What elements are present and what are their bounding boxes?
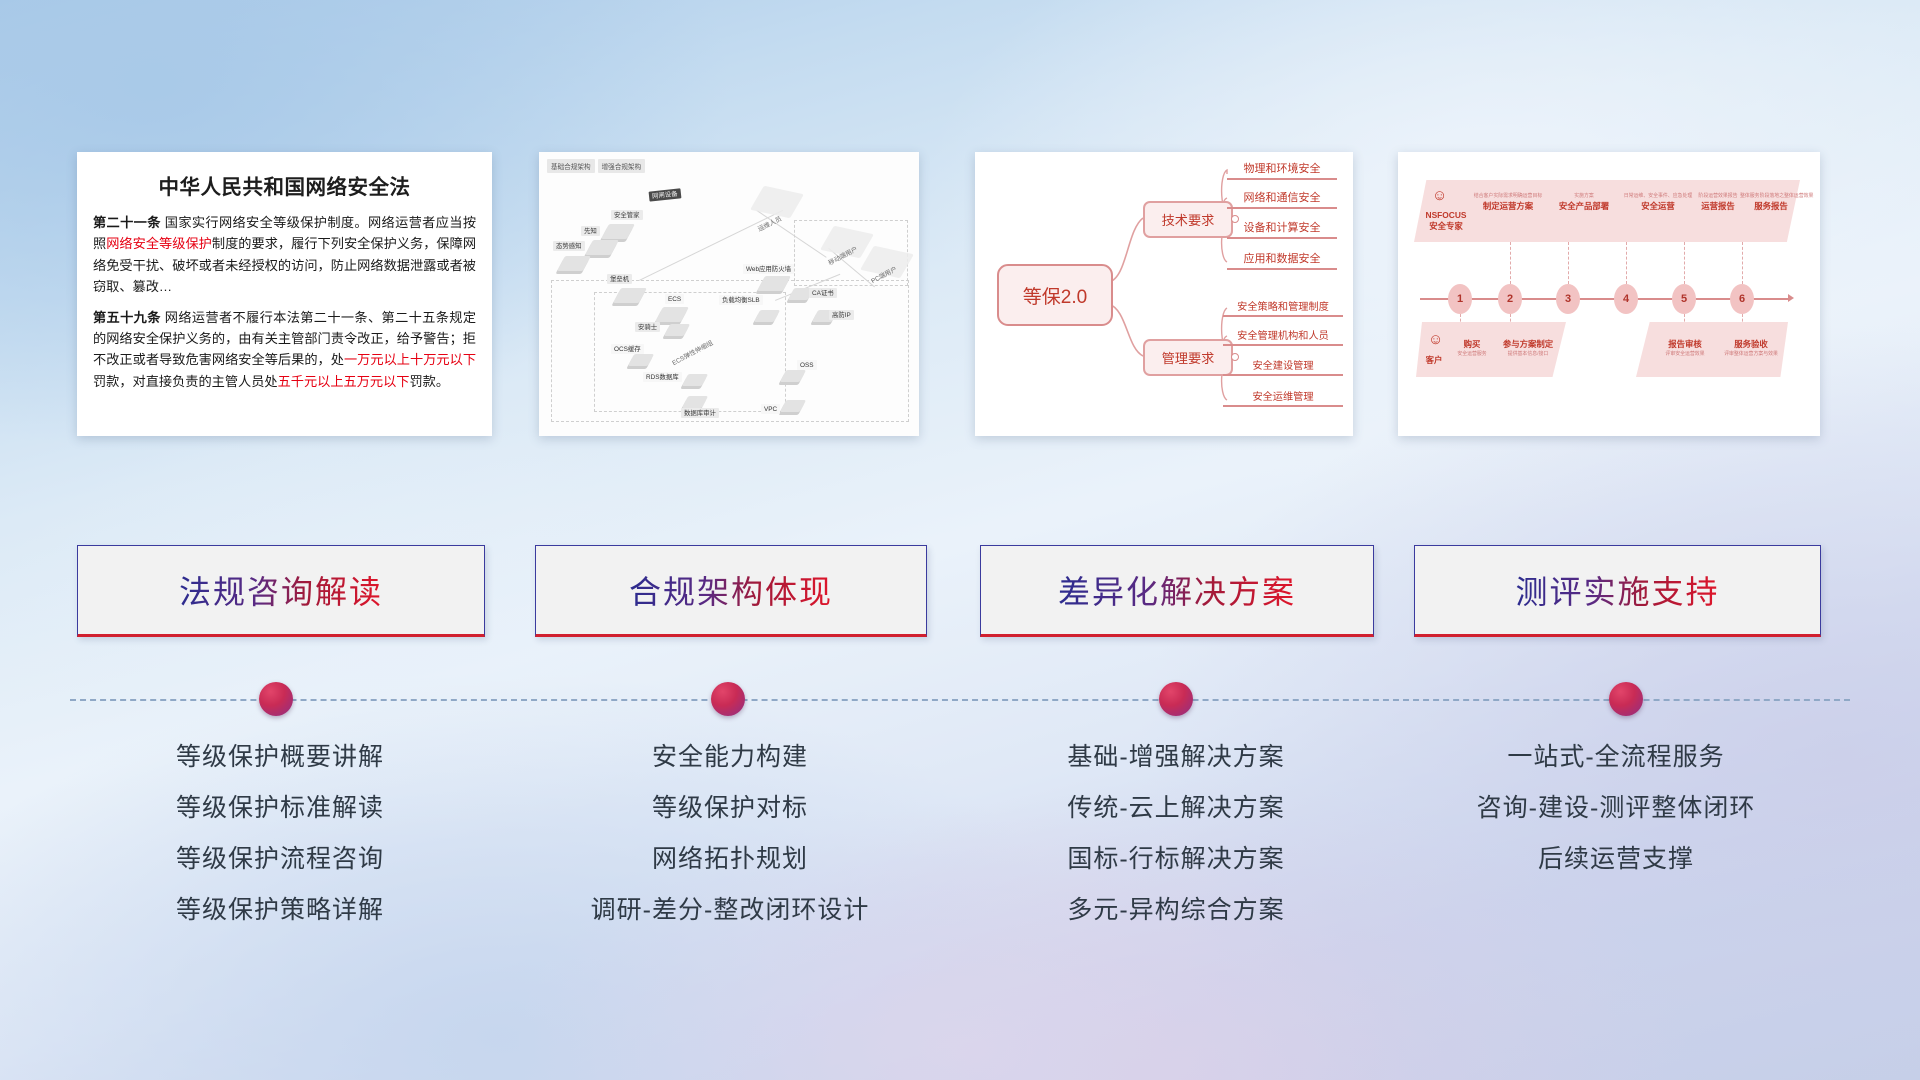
slide-root: 中华人民共和国网络安全法 第二十一条 国家实行网络安全等级保护制度。网络运营者应… [0,0,1920,1080]
detail-list-assessment: 一站式-全流程服务 咨询-建设-测评整体闭环 后续运营支撑 [1412,745,1820,872]
architecture-tabs[interactable]: 基础合规架构 增强合规架构 [547,159,645,173]
progress-timeline-dot-3[interactable] [1159,682,1193,716]
architecture-cube-situation [557,256,591,271]
list-item[interactable]: 一站式-全流程服务 [1412,745,1820,770]
bottom-step-1-sub: 提供基本信息/接口 [1494,350,1562,357]
architecture-node-bastion: 堡垒机 [607,274,632,284]
headline-button-architecture[interactable]: 合规架构体现 [535,545,927,637]
headline-button-architecture-label: 合规架构体现 [629,567,833,613]
headline-button-assessment[interactable]: 测评实施支持 [1414,545,1821,637]
vendor-role-line1: NSFOCUS [1418,210,1474,220]
service-timeline-preview-card[interactable]: ☺ NSFOCUS 安全专家 结合客户实际需求明确运营目标 制定运营方案 实施方… [1398,152,1820,436]
list-item[interactable]: 国标-行标解决方案 [980,847,1372,872]
timeline-node-4[interactable]: 4 [1614,284,1638,314]
architecture-node-ca: CA证书 [809,288,837,298]
mindmap-diagram: 等保2.0 技术要求 物理和环境安全 网络和通信安全 设备和计算安全 应用和数据… [975,152,1353,436]
architecture-node-gateway: 网闸设备 [649,188,681,201]
mindmap-leaf-tech-0: 物理和环境安全 [1227,160,1337,180]
mindmap-leaf-mgmt-1: 安全管理机构和人员 [1223,327,1343,346]
law-title: 中华人民共和国网络安全法 [93,170,476,200]
timeline-bottom-step-0: 购买 安全运营服务 [1450,338,1494,358]
timeline-node-2[interactable]: 2 [1498,284,1522,314]
progress-timeline-line [70,699,1850,701]
architecture-node-waf: Web应用防火墙 [743,264,794,274]
list-item[interactable]: 传统-云上解决方案 [980,796,1372,821]
architecture-node-situation: 态势感知 [553,241,585,251]
law-preview-card[interactable]: 中华人民共和国网络安全法 第二十一条 国家实行网络安全等级保护制度。网络运营者应… [77,152,492,436]
detail-column-regulation: 等级保护概要讲解 等级保护标准解读 等级保护流程咨询 等级保护策略详解 [78,745,482,949]
timeline-customer-role: 客户 [1420,354,1448,366]
architecture-node-anqishi: 安骑士 [635,322,660,332]
top-step-2-title: 安全运营 [1620,200,1696,212]
architecture-node-oss: OSS [797,360,817,370]
top-step-1-sub: 实施方案 [1548,192,1620,199]
detail-column-architecture: 安全能力构建 等级保护对标 网络拓扑规划 调研-差分-整改闭环设计 [535,745,925,949]
vendor-role-line2: 安全专家 [1418,220,1474,232]
customer-person-icon: ☺ [1428,332,1443,347]
headline-button-solution[interactable]: 差异化解决方案 [980,545,1374,637]
detail-column-assessment: 一站式-全流程服务 咨询-建设-测评整体闭环 后续运营支撑 [1412,745,1820,898]
headline-button-assessment-label: 测评实施支持 [1515,567,1719,613]
mindmap-preview-card[interactable]: 等保2.0 技术要求 物理和环境安全 网络和通信安全 设备和计算安全 应用和数据… [975,152,1353,436]
list-item[interactable]: 安全能力构建 [535,745,925,770]
list-item[interactable]: 等级保护流程咨询 [78,847,482,872]
bottom-step-2-title: 报告审核 [1654,338,1716,350]
law-article-21: 第二十一条 国家实行网络安全等级保护制度。网络运营者应当按照网络安全等级保护制度… [93,212,476,298]
timeline-bottom-step-1: 参与方案制定 提供基本信息/接口 [1494,338,1562,358]
architecture-node-ecs: ECS [665,294,684,304]
architecture-node-xianzhi: 先知 [581,226,600,236]
mindmap-leaf-mgmt-0: 安全策略和管理制度 [1223,298,1343,317]
progress-timeline-dot-4[interactable] [1609,682,1643,716]
progress-timeline-dot-2[interactable] [711,682,745,716]
timeline-axis-arrow-icon [1788,294,1794,302]
detail-list-solution: 基础-增强解决方案 传统-云上解决方案 国标-行标解决方案 多元-异构综合方案 [980,745,1372,923]
timeline-top-step-0: 结合客户实际需求明确运营目标 制定运营方案 [1472,192,1544,212]
timeline-vendor-role: NSFOCUS 安全专家 [1418,210,1474,232]
timeline-top-step-1: 实施方案 安全产品部署 [1548,192,1620,212]
mindmap-branch-technical[interactable]: 技术要求 [1143,201,1233,238]
architecture-node-antiddos: 高防IP [829,310,854,320]
detail-list-architecture: 安全能力构建 等级保护对标 网络拓扑规划 调研-差分-整改闭环设计 [535,745,925,923]
timeline-dash-5 [1684,242,1685,284]
progress-timeline-dot-1[interactable] [259,682,293,716]
bottom-step-3-title: 服务验收 [1714,338,1788,350]
top-step-4-sub: 整体服务阶段落地之整体运营效果 [1740,192,1802,199]
timeline-node-5[interactable]: 5 [1672,284,1696,314]
architecture-node-vpc: VPC [761,404,780,414]
law-article-59-highlight-2: 五千元以上五万元以下 [278,374,410,389]
list-item[interactable]: 等级保护对标 [535,796,925,821]
mindmap-leaf-tech-3: 应用和数据安全 [1227,250,1337,270]
timeline-node-3[interactable]: 3 [1556,284,1580,314]
architecture-node-housekeeper: 安全管家 [611,210,643,220]
architecture-node-dbaudit: 数据库审计 [681,408,719,418]
architecture-node-ocs: OCS缓存 [611,344,644,354]
top-step-0-title: 制定运营方案 [1472,200,1544,212]
law-article-59: 第五十九条 网络运营者不履行本法第二十一条、第二十五条规定的网络安全保护义务的，… [93,307,476,393]
law-article-59-text-mid: 罚款，对直接负责的主管人员处 [93,374,278,389]
timeline-top-step-3: 阶段运营效果报告 运营报告 [1690,192,1746,212]
mindmap-leaf-tech-1: 网络和通信安全 [1227,189,1337,209]
top-step-2-sub: 日常运维、安全事件、应急处理 [1620,192,1696,199]
detail-list-regulation: 等级保护概要讲解 等级保护标准解读 等级保护流程咨询 等级保护策略详解 [78,745,482,923]
list-item[interactable]: 多元-异构综合方案 [980,898,1372,923]
bottom-step-0-sub: 安全运营服务 [1450,350,1494,357]
architecture-cube-xianzhi [585,240,619,255]
headline-button-solution-label: 差异化解决方案 [1058,567,1296,613]
law-card-body: 中华人民共和国网络安全法 第二十一条 国家实行网络安全等级保护制度。网络运营者应… [77,152,492,436]
headline-button-regulation[interactable]: 法规咨询解读 [77,545,485,637]
timeline-dash-6 [1742,242,1743,284]
list-item[interactable]: 等级保护策略详解 [78,898,482,923]
mindmap-leaf-tech-2: 设备和计算安全 [1227,219,1337,239]
headline-button-regulation-label: 法规咨询解读 [179,567,383,613]
mindmap-branch-management[interactable]: 管理要求 [1143,339,1233,376]
timeline-dash-2 [1510,242,1511,284]
bottom-step-1-title: 参与方案制定 [1494,338,1562,350]
detail-column-solution: 基础-增强解决方案 传统-云上解决方案 国标-行标解决方案 多元-异构综合方案 [980,745,1372,949]
timeline-dash-4 [1626,242,1627,284]
top-step-1-title: 安全产品部署 [1548,200,1620,212]
mindmap-root-node[interactable]: 等保2.0 [997,264,1113,326]
list-item[interactable]: 后续运营支撑 [1412,847,1820,872]
law-article-59-highlight-1: 一万元以上十万元以下 [344,352,476,367]
top-step-3-title: 运营报告 [1690,200,1746,212]
architecture-diagram: 基础合规架构 增强合规架构 网闸设备 安全管家 先知 态 [539,152,919,436]
architecture-tab-basic[interactable]: 基础合规架构 [547,159,595,173]
timeline-top-step-4: 整体服务阶段落地之整体运营效果 服务报告 [1740,192,1802,212]
architecture-preview-card[interactable]: 基础合规架构 增强合规架构 网闸设备 安全管家 先知 态 [539,152,919,436]
headline-button-row: 法规咨询解读 合规架构体现 差异化解决方案 测评实施支持 [0,545,1920,641]
list-item[interactable]: 咨询-建设-测评整体闭环 [1412,796,1820,821]
list-item[interactable]: 等级保护概要讲解 [78,745,482,770]
top-step-4-title: 服务报告 [1740,200,1802,212]
list-item[interactable]: 等级保护标准解读 [78,796,482,821]
list-item[interactable]: 基础-增强解决方案 [980,745,1372,770]
bottom-step-2-sub: 评审安全运营效果 [1654,350,1716,357]
timeline-node-1[interactable]: 1 [1448,284,1472,314]
timeline-dash-3 [1568,242,1569,284]
timeline-bottom-step-2: 报告审核 评审安全运营效果 [1654,338,1716,358]
timeline-top-step-2: 日常运维、安全事件、应急处理 安全运营 [1620,192,1696,212]
timeline-bottom-step-3: 服务验收 评审整体运营方案与效果 [1714,338,1788,358]
top-step-3-sub: 阶段运营效果报告 [1690,192,1746,199]
bottom-step-3-sub: 评审整体运营方案与效果 [1714,350,1788,357]
architecture-plate-user [750,186,804,219]
mindmap-leaf-mgmt-2: 安全建设管理 [1223,357,1343,376]
list-item[interactable]: 调研-差分-整改闭环设计 [535,898,925,923]
law-article-59-text-after: 罚款。 [410,374,450,389]
architecture-node-slb: 负载均衡SLB [719,295,763,305]
architecture-node-rds: RDS数据库 [643,372,682,382]
top-step-0-sub: 结合客户实际需求明确运营目标 [1472,192,1544,199]
law-article-21-highlight: 网络安全等级保护 [106,236,212,251]
bottom-step-0-title: 购买 [1450,338,1494,350]
vendor-person-icon: ☺ [1432,188,1447,203]
timeline-node-6[interactable]: 6 [1730,284,1754,314]
preview-card-row: 中华人民共和国网络安全法 第二十一条 国家实行网络安全等级保护制度。网络运营者应… [0,152,1920,442]
mindmap-leaf-mgmt-3: 安全运维管理 [1223,388,1343,407]
architecture-tab-enhanced[interactable]: 增强合规架构 [598,159,646,173]
architecture-cube-housekeeper [601,224,635,239]
law-article-59-label: 第五十九条 [93,310,161,325]
list-item[interactable]: 网络拓扑规划 [535,847,925,872]
service-timeline-diagram: ☺ NSFOCUS 安全专家 结合客户实际需求明确运营目标 制定运营方案 实施方… [1398,152,1820,436]
customer-role-label: 客户 [1420,354,1448,366]
law-article-21-label: 第二十一条 [93,215,161,230]
